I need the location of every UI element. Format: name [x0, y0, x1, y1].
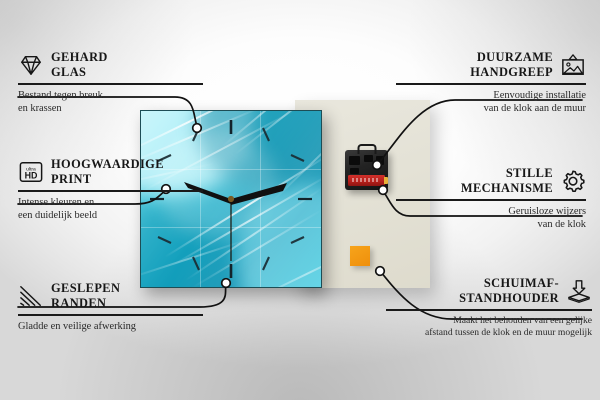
feature-description: Bestand tegen breuk en krassen: [18, 89, 203, 116]
beveled-edge-icon: [18, 284, 44, 308]
feature-title: HOOGWAARDIGE PRINT: [51, 157, 164, 187]
feature-header: GEHARD GLAS: [18, 50, 203, 80]
feature-divider: [396, 83, 586, 84]
feature-title: STILLE MECHANISME: [461, 166, 553, 196]
feature-stille-mechanisme: STILLE MECHANISME Geruisloze wijzers van…: [396, 166, 586, 232]
feature-duurzame-handgreep: DUURZAME HANDGREEP Eenvoudige installati…: [396, 50, 586, 116]
feature-hoogwaardige-print: ultra HD HOOGWAARDIGE PRINT Intense kleu…: [18, 157, 203, 223]
svg-text:HD: HD: [25, 171, 38, 181]
gear-icon: [560, 169, 586, 193]
feature-header: DUURZAME HANDGREEP: [396, 50, 586, 80]
feature-header: SCHUIMAF- STANDHOUDER: [386, 276, 592, 306]
mechanism-battery: [348, 175, 385, 186]
ultra-hd-icon: ultra HD: [18, 160, 44, 184]
feature-divider: [18, 190, 203, 191]
feature-description: Gladde en veilige afwerking: [18, 320, 203, 334]
feature-description: Geruisloze wijzers van de klok: [396, 205, 586, 232]
arrow-down-stack-icon: [566, 279, 592, 303]
diamond-icon: [18, 53, 44, 77]
feature-title: GEHARD GLAS: [51, 50, 108, 80]
feature-title: SCHUIMAF- STANDHOUDER: [459, 276, 559, 306]
foam-spacer: [350, 246, 370, 266]
clock-mechanism: [345, 150, 388, 190]
feature-description: Eenvoudige installatie van de klok aan d…: [396, 89, 586, 116]
feature-header: STILLE MECHANISME: [396, 166, 586, 196]
feature-schuimaf-standhouder: SCHUIMAF- STANDHOUDER Maakt het behouden…: [386, 276, 592, 340]
feature-description: Maakt het behouden van een gelijke afsta…: [386, 315, 592, 340]
feature-divider: [18, 83, 203, 84]
feature-divider: [18, 314, 203, 315]
picture-frame-hook-icon: [560, 53, 586, 77]
feature-title: GESLEPEN RANDEN: [51, 281, 120, 311]
feature-header: GESLEPEN RANDEN: [18, 281, 203, 311]
infographic-canvas: GEHARD GLAS Bestand tegen breuk en krass…: [0, 0, 600, 400]
feature-description: Intense kleuren en een duidelijk beeld: [18, 196, 203, 223]
feature-gehard-glas: GEHARD GLAS Bestand tegen breuk en krass…: [18, 50, 203, 116]
feature-geslepen-randen: GESLEPEN RANDEN Gladde en veilige afwerk…: [18, 281, 203, 333]
feature-divider: [386, 309, 592, 310]
feature-divider: [396, 199, 586, 200]
mechanism-hanger: [357, 144, 376, 154]
feature-title: DUURZAME HANDGREEP: [470, 50, 553, 80]
feature-header: ultra HD HOOGWAARDIGE PRINT: [18, 157, 203, 187]
